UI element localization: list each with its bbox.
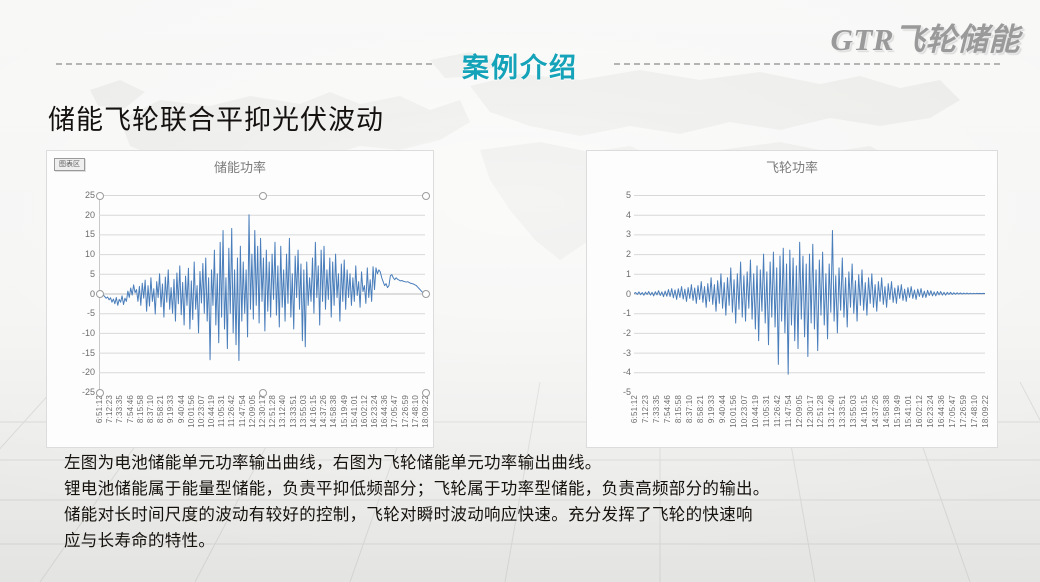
y-tick-label: 0 [90,289,95,299]
y-tick-label: 5 [90,269,95,279]
body-line-2: 锂电池储能属于能量型储能，负责平抑低频部分；飞轮属于功率型储能，负责高频部分的输… [64,476,994,502]
plot-area-storage [99,195,425,392]
x-tick-label: 10:44:19 [207,395,216,428]
y-tick-label: -2 [623,328,631,338]
x-tick-label: 12:30:17 [258,395,267,428]
x-tick-label: 18:09:22 [981,395,990,428]
x-tick-label: 10:01:56 [187,395,196,428]
selection-handle-bottom-left[interactable] [96,389,104,397]
x-tick-label: 7:33:35 [115,395,124,423]
x-tick-label: 15:41:01 [350,395,359,428]
x-tick-label: 11:47:54 [238,395,247,427]
x-tick-label: 10:01:56 [729,395,738,428]
y-tick-label: -10 [82,328,95,338]
x-tick-label: 17:05:47 [948,395,957,428]
y-tick-label: 20 [85,210,95,220]
x-tick-label: 9:19:33 [707,395,716,423]
body-line-3: 储能对长时间尺度的波动有较好的控制，飞轮对瞬时波动响应快速。充分发挥了飞轮的快速… [64,502,994,528]
y-tick-label: -1 [623,308,631,318]
y-tick-label: -4 [623,367,631,377]
x-tick-label: 14:37:26 [871,395,880,428]
x-tick-label: 7:54:46 [663,395,672,423]
body-line-4: 应与长寿命的特性。 [64,528,994,554]
x-tick-label: 9:40:44 [177,395,186,423]
x-tick-label: 12:09:05 [248,395,257,428]
x-tick-label: 12:51:28 [268,395,277,428]
selection-handle-middle-right[interactable] [422,290,430,298]
selection-handle-bottom-right[interactable] [422,389,430,397]
x-tick-label: 13:55:03 [849,395,858,428]
x-tick-label: 14:16:15 [860,395,869,428]
x-tick-label: 7:54:46 [126,395,135,423]
y-tick-label: -5 [87,308,95,318]
y-tick-label: -20 [82,367,95,377]
selection-handle-bottom-center[interactable] [259,389,267,397]
x-tick-label: 16:44:36 [380,395,389,428]
x-tick-label: 7:33:35 [652,395,661,423]
y-tick-label: 1 [626,269,631,279]
x-tick-label: 14:58:38 [329,395,338,428]
x-tick-label: 14:58:38 [882,395,891,428]
x-tick-label: 17:26:59 [959,395,968,428]
x-tick-label: 9:40:44 [718,395,727,423]
y-tick-label: 5 [626,190,631,200]
x-tick-label: 18:09:22 [421,395,430,428]
x-tick-label: 13:12:40 [278,395,287,428]
x-tick-label: 13:33:51 [838,395,847,428]
slide-header: GTR飞轮储能 案例介绍 [0,0,1040,92]
x-tick-label: 13:33:51 [289,395,298,428]
header-divider-right [614,63,1000,65]
x-tick-label: 11:05:31 [217,395,226,427]
selection-handle-middle-left[interactable] [96,290,104,298]
x-tick-label: 11:05:31 [762,395,771,427]
x-tick-label: 8:37:10 [685,395,694,423]
x-tick-label: 11:26:42 [227,395,236,427]
x-tick-label: 12:09:05 [795,395,804,428]
x-tick-label: 17:26:59 [401,395,410,428]
x-tick-label: 7:12:23 [105,395,114,423]
selection-handle-top-center[interactable] [259,192,267,200]
y-tick-label: 3 [626,229,631,239]
y-tick-label: 10 [85,249,95,259]
plot-area-flywheel [634,195,985,392]
x-tick-label: 12:51:28 [816,395,825,428]
x-tick-label: 8:15:58 [136,395,145,423]
y-tick-label: -25 [82,387,95,397]
y-axis-labels-flywheel: 543210-1-2-3-4-5 [591,195,631,392]
x-axis-labels-storage: 6:51:127:12:237:33:357:54:468:15:588:37:… [99,395,425,451]
x-tick-label: 8:37:10 [146,395,155,423]
selection-handle-top-right[interactable] [422,192,430,200]
x-tick-label: 11:26:42 [773,395,782,427]
x-tick-label: 15:19:49 [340,395,349,428]
x-tick-label: 8:15:58 [674,395,683,423]
x-axis-labels-flywheel: 6:51:127:12:237:33:357:54:468:15:588:37:… [634,395,985,451]
x-tick-label: 17:05:47 [390,395,399,428]
y-axis-labels-storage: 2520151050-5-10-15-20-25 [55,195,95,392]
body-line-1: 左图为电池储能单元功率输出曲线，右图为飞轮储能单元功率输出曲线。 [64,450,994,476]
x-tick-label: 9:19:33 [166,395,175,423]
selection-handle-top-left[interactable] [96,192,104,200]
x-tick-label: 8:58:21 [156,395,165,423]
x-tick-label: 6:51:12 [95,395,104,423]
x-tick-label: 16:02:12 [915,395,924,428]
x-tick-label: 13:12:40 [827,395,836,428]
section-title: 案例介绍 [0,46,1040,85]
page-title: 储能飞轮联合平抑光伏波动 [48,98,384,137]
x-tick-label: 7:12:23 [641,395,650,423]
x-tick-label: 8:58:21 [696,395,705,423]
x-tick-label: 14:16:15 [309,395,318,428]
x-tick-label: 10:44:19 [751,395,760,428]
y-tick-label: 25 [85,190,95,200]
x-tick-label: 14:37:26 [319,395,328,428]
x-tick-label: 15:41:01 [904,395,913,428]
x-tick-label: 17:48:10 [970,395,979,428]
x-tick-label: 16:02:12 [360,395,369,428]
x-tick-label: 16:23:24 [926,395,935,428]
chart-flywheel-power[interactable]: 飞轮功率 543210-1-2-3-4-5 6:51:127:12:237:33… [586,150,998,448]
y-tick-label: -15 [82,348,95,358]
y-tick-label: -3 [623,348,631,358]
x-tick-label: 10:23:07 [740,395,749,428]
chart-storage-power[interactable]: 图表区 储能功率 2520151050-5-10-15-20-25 6:51:1… [46,150,434,448]
y-tick-label: 15 [85,229,95,239]
x-tick-label: 17:48:10 [411,395,420,428]
y-tick-label: 4 [626,210,631,220]
x-tick-label: 15:19:49 [893,395,902,428]
x-tick-label: 12:30:17 [806,395,815,428]
x-tick-label: 6:51:12 [630,395,639,423]
x-tick-label: 11:47:54 [784,395,793,427]
x-tick-label: 13:55:03 [299,395,308,428]
x-tick-label: 10:23:07 [197,395,206,428]
chart-title-storage: 储能功率 [47,157,433,176]
y-tick-label: 2 [626,249,631,259]
y-tick-label: 0 [626,289,631,299]
chart-title-flywheel: 飞轮功率 [587,157,997,176]
x-tick-label: 16:23:24 [370,395,379,428]
body-paragraph: 左图为电池储能单元功率输出曲线，右图为飞轮储能单元功率输出曲线。 锂电池储能属于… [64,450,994,554]
x-tick-label: 16:44:36 [937,395,946,428]
